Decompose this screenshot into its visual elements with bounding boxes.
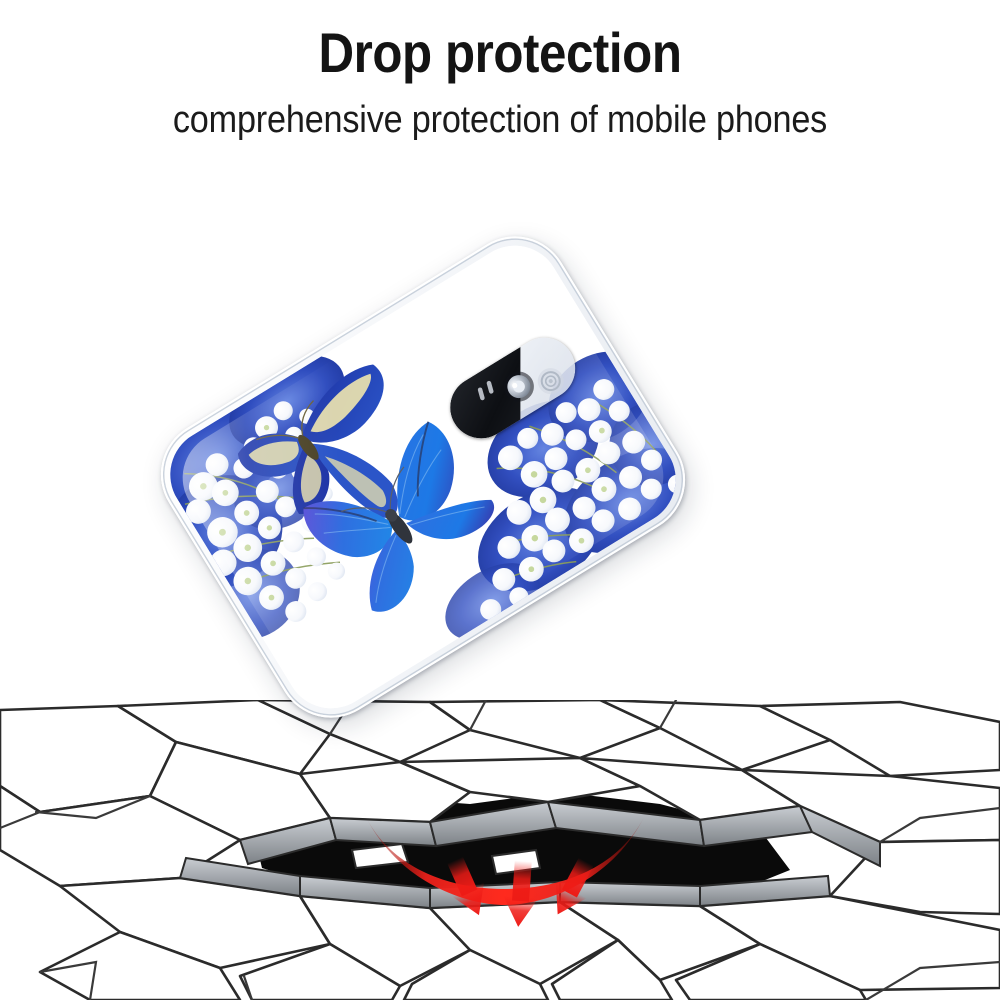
arrow-down-icon: [440, 855, 495, 922]
phone-case-body[interactable]: [141, 216, 706, 738]
impact-arrows: [440, 855, 600, 950]
phone-case-product[interactable]: [63, 162, 743, 832]
product-marketing-image: Drop protection comprehensive protection…: [0, 0, 1000, 1000]
arrow-down-icon: [543, 855, 600, 923]
page-subtitle: comprehensive protection of mobile phone…: [50, 100, 950, 142]
page-title: Drop protection: [60, 24, 940, 83]
case-artwork: [153, 229, 693, 726]
arrow-down-icon: [501, 860, 541, 928]
